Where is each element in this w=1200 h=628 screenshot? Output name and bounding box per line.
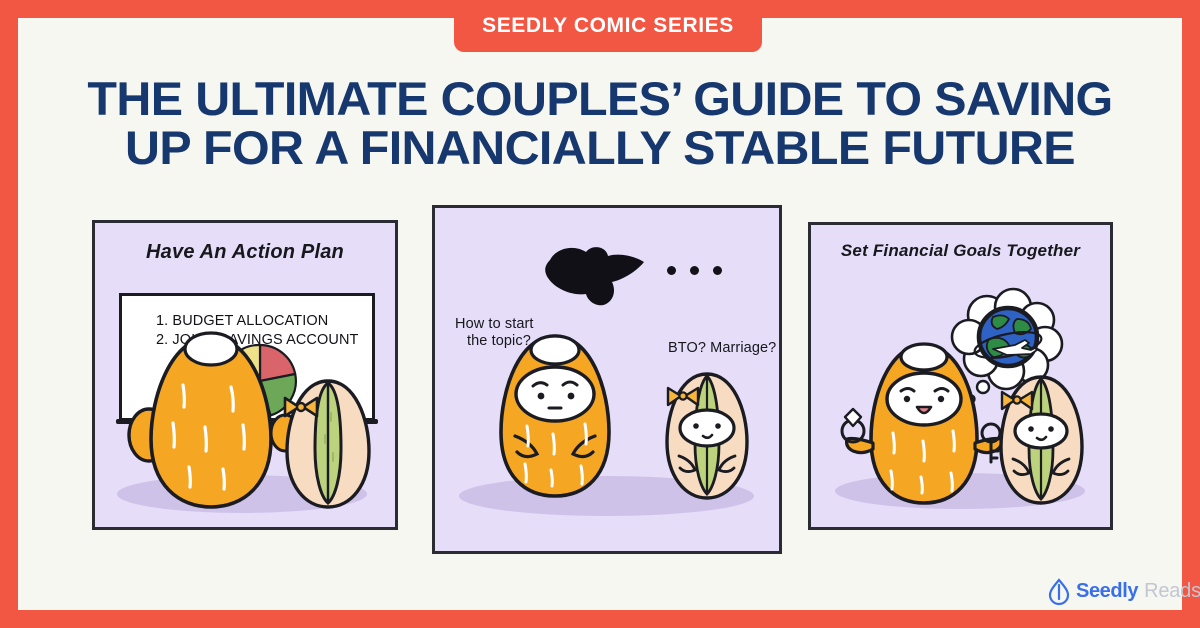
page-title: THE ULTIMATE COUPLES’ GUIDE TO SAVING UP…: [60, 74, 1140, 172]
title-line-2: UP FOR A FINANCIALLY STABLE FUTURE: [44, 123, 1156, 172]
badge-label: SEEDLY COMIC SERIES: [482, 14, 734, 38]
poster-canvas: SEEDLY COMIC SERIES THE ULTIMATE COUPLES…: [0, 0, 1200, 628]
panel-1-heading: Have An Action Plan: [95, 241, 395, 264]
panel-3-heading: Set Financial Goals Together: [811, 241, 1110, 261]
character-cap: [531, 336, 579, 364]
dot-3: [713, 266, 722, 275]
bird-shape: [545, 247, 644, 305]
pistachio-face: [1015, 414, 1067, 448]
logo-brand-text: Seedly: [1076, 580, 1138, 603]
character-cap: [185, 333, 237, 365]
character-face: [516, 367, 594, 421]
ellipsis-dots: [667, 266, 722, 275]
pistachio-character: [657, 366, 757, 506]
bird-silhouette-icon: [540, 240, 655, 310]
logo-suffix-text: Reads: [1144, 580, 1200, 603]
character-cap: [901, 344, 947, 370]
orange-egg-character: [839, 337, 1009, 512]
orange-egg-character: [485, 328, 625, 503]
pistachio-character: [273, 373, 383, 518]
comic-panel-1: Have An Action Plan 1. BUDGET ALLOCATION…: [92, 220, 398, 530]
pistachio-face: [680, 410, 734, 446]
comic-panel-2: How to start the topic? BTO? Marriage?: [432, 205, 782, 554]
pistachio-character: [989, 367, 1094, 512]
orange-egg-character: [131, 327, 291, 517]
speech-text-right: BTO? Marriage?: [668, 340, 776, 357]
comic-panel-3: Set Financial Goals Together: [808, 222, 1113, 530]
dot-2: [690, 266, 699, 275]
seedly-reads-logo[interactable]: Seedly Reads: [1048, 579, 1200, 603]
dot-1: [667, 266, 676, 275]
title-line-1: THE ULTIMATE COUPLES’ GUIDE TO SAVING: [44, 74, 1156, 123]
seedly-drop-icon: [1048, 579, 1070, 603]
character-face: [887, 373, 961, 425]
comic-series-badge: SEEDLY COMIC SERIES: [454, 0, 762, 52]
